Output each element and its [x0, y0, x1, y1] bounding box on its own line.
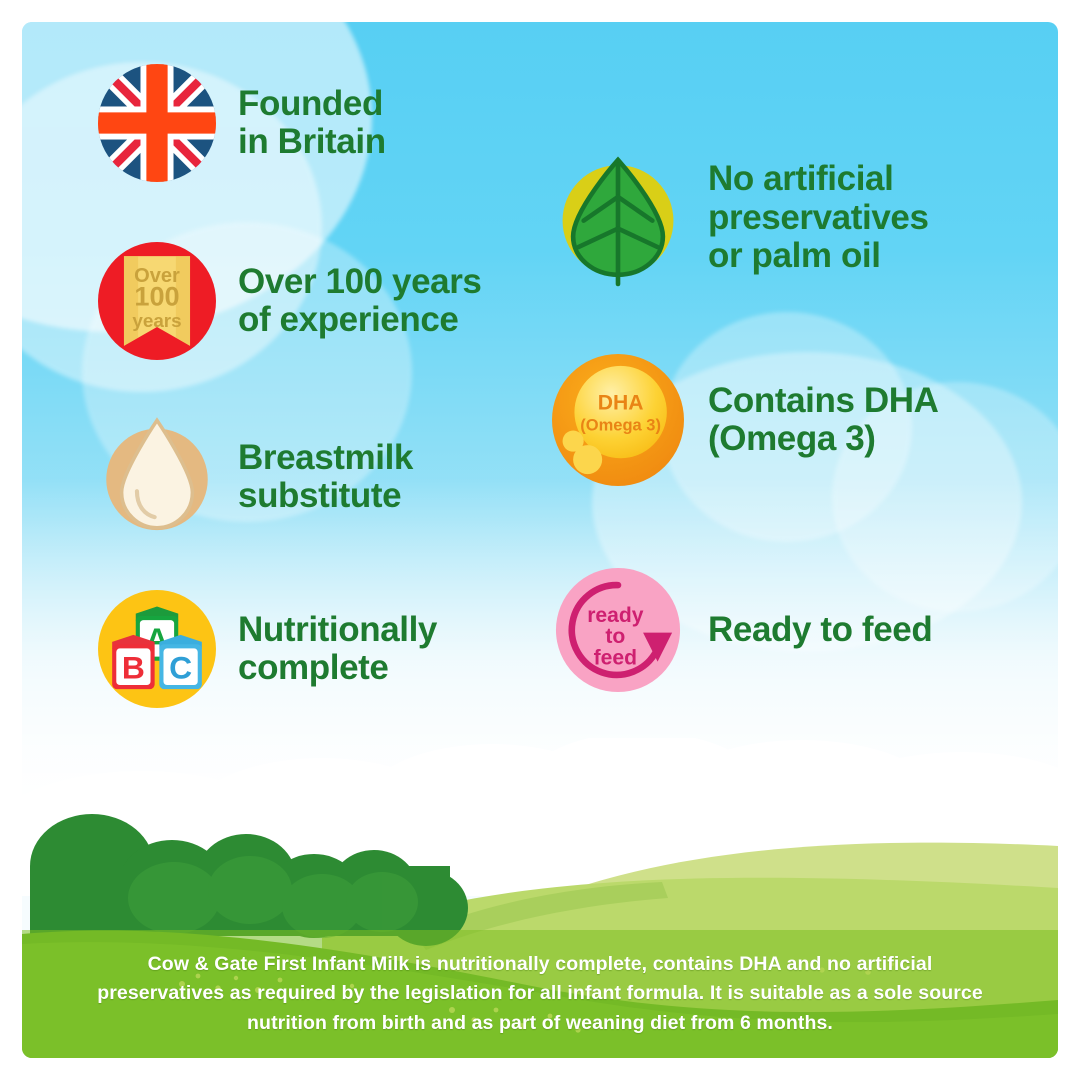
over-100-years-badge-icon: Over 100 years: [98, 242, 216, 360]
feature-nutritionally-complete: A B: [98, 590, 568, 708]
badge-line-dha: DHA: [598, 391, 644, 414]
feature-label: Breastmilk substitute: [238, 439, 413, 516]
abc-blocks-icon: A B: [98, 590, 216, 708]
ready-to-feed-arrow-icon: ready to feed: [552, 564, 684, 696]
block-c: C: [159, 635, 201, 689]
badge-line-omega: (Omega 3): [580, 417, 661, 435]
feature-ready-to-feed: ready to feed Ready to feed: [552, 564, 1032, 696]
feature-founded-in-britain: Founded in Britain: [98, 64, 568, 182]
footer-disclaimer-text: Cow & Gate First Infant Milk is nutritio…: [82, 950, 998, 1038]
feature-over-100-years: Over 100 years Over 100 years of experie…: [98, 242, 568, 360]
feature-column-right: No artificial preservatives or palm oil: [552, 152, 1032, 696]
feature-label: Nutritionally complete: [238, 611, 437, 688]
feature-breastmilk-substitute: Breastmilk substitute: [98, 418, 568, 536]
infographic-poster: Founded in Britain Over 100 years: [0, 0, 1080, 1080]
badge-line-feed: feed: [594, 646, 637, 669]
feature-no-artificial-preservatives: No artificial preservatives or palm oil: [552, 152, 1032, 284]
feature-contains-dha: DHA (Omega 3) Contains DHA (Omega 3): [552, 354, 1032, 486]
milk-droplet-icon: [98, 418, 216, 536]
feature-column-left: Founded in Britain Over 100 years: [98, 64, 568, 708]
green-leaf-icon: [552, 152, 684, 284]
block-letter-c: C: [169, 650, 192, 686]
block-letter-b: B: [122, 650, 145, 686]
badge-line-years: years: [132, 310, 181, 331]
feature-label: Ready to feed: [708, 611, 932, 650]
feature-label: No artificial preservatives or palm oil: [708, 160, 929, 276]
badge-line-to: to: [605, 625, 625, 648]
dha-oil-droplet-icon: DHA (Omega 3): [552, 354, 684, 486]
poster-canvas: Founded in Britain Over 100 years: [22, 22, 1058, 1058]
feature-label: Contains DHA (Omega 3): [708, 382, 938, 459]
badge-line-100: 100: [134, 281, 179, 312]
feature-label: Founded in Britain: [238, 85, 386, 162]
block-b: B: [112, 635, 154, 689]
union-jack-flag-icon: [98, 64, 216, 182]
badge-line-ready: ready: [587, 604, 644, 627]
feature-columns: Founded in Britain Over 100 years: [22, 22, 1058, 1058]
footer-disclaimer-band: Cow & Gate First Infant Milk is nutritio…: [22, 930, 1058, 1058]
feature-label: Over 100 years of experience: [238, 263, 482, 340]
